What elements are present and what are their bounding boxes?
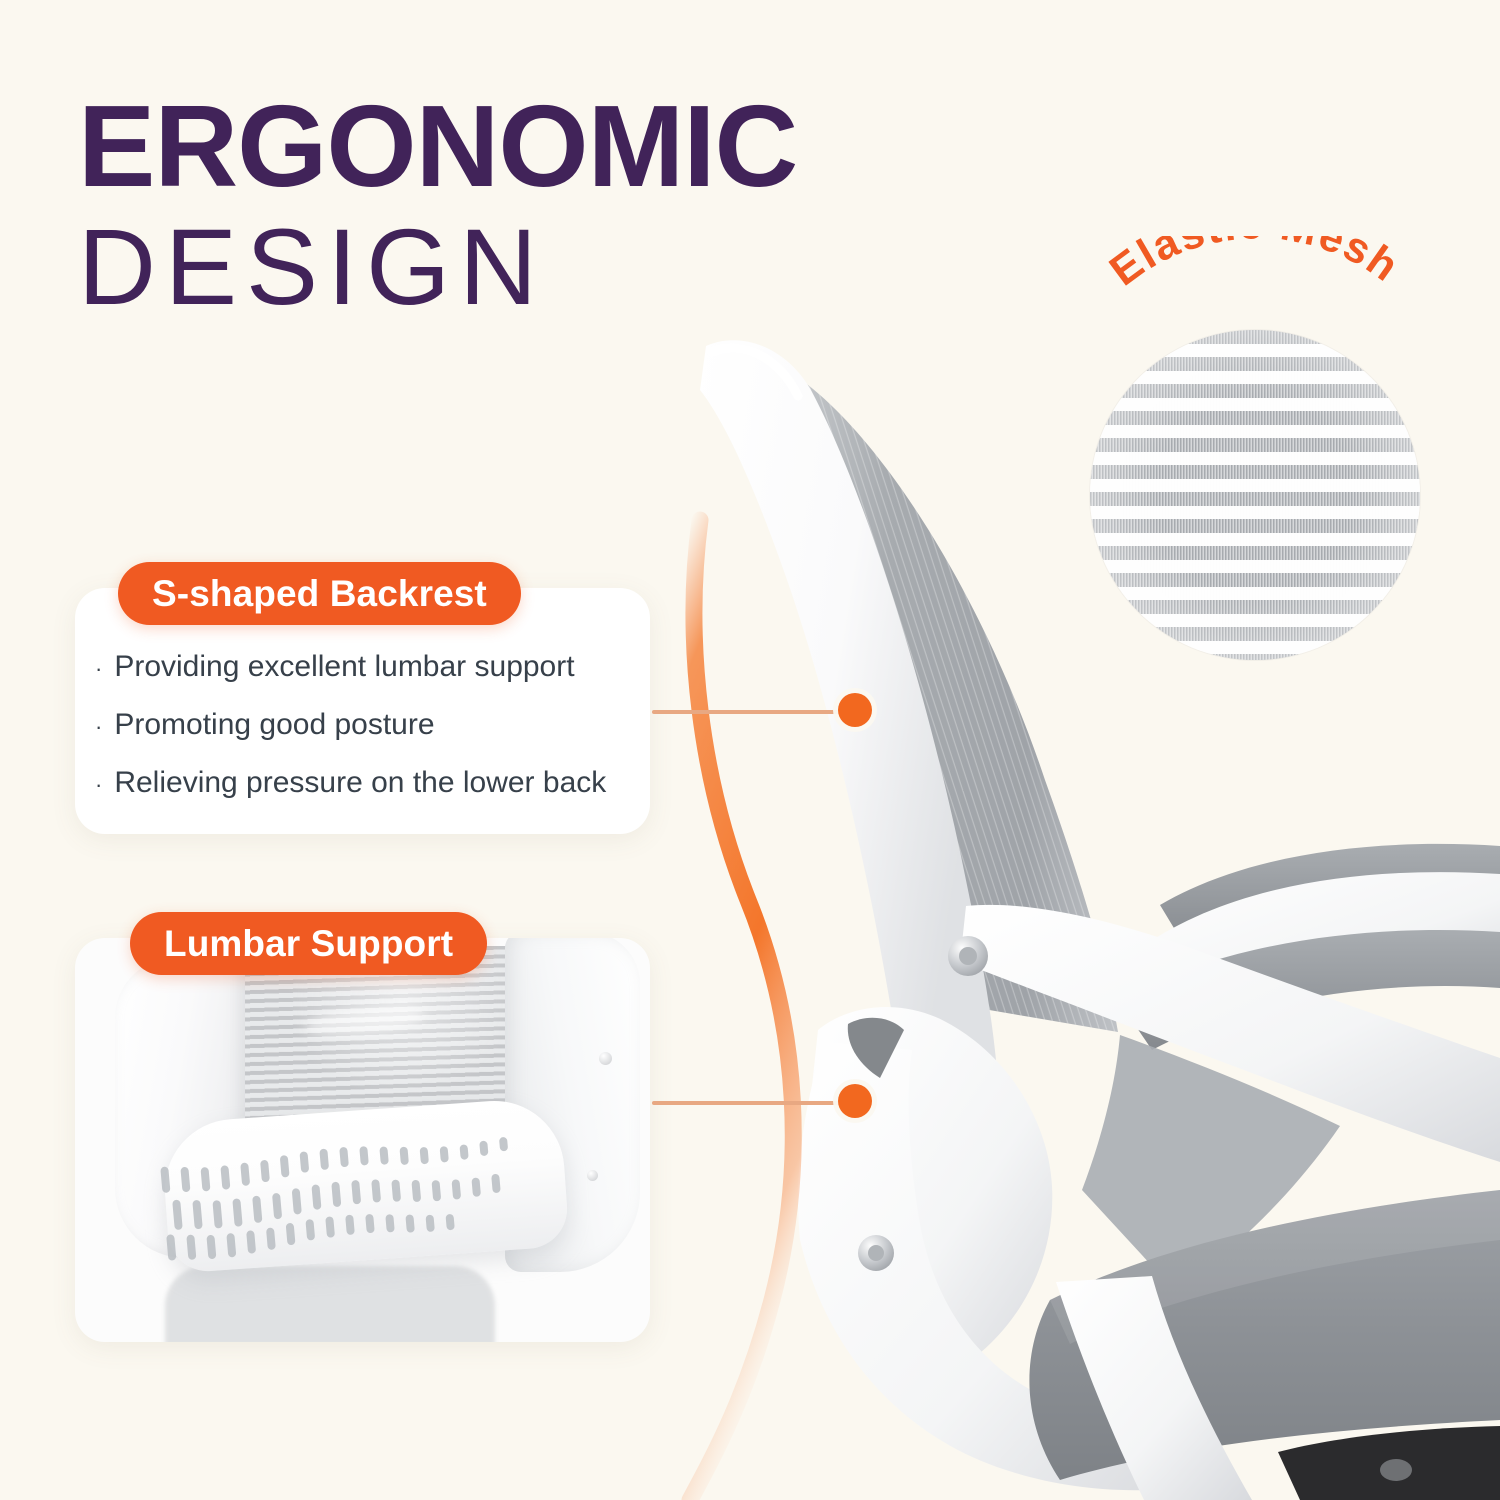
vent-slot <box>220 1165 230 1189</box>
lumbar-screw-icon <box>587 1170 598 1181</box>
vent-slot <box>425 1215 434 1233</box>
vent-slot <box>286 1223 296 1245</box>
lumbar-base-shadow <box>165 1266 495 1342</box>
lumbar-support-photo <box>75 938 650 1342</box>
elastic-mesh-label: Elastic Mesh <box>1036 236 1476 436</box>
vent-slot <box>405 1214 415 1232</box>
leader-line-backrest <box>652 710 857 714</box>
hinge-screw-lower <box>858 1235 894 1271</box>
svg-text:Elastic Mesh: Elastic Mesh <box>1101 236 1408 295</box>
bullet-dot-icon: · <box>95 716 102 738</box>
backrest-bullet-list: · Providing excellent lumbar support · P… <box>95 652 655 826</box>
vent-slot <box>200 1167 210 1192</box>
vent-slot <box>351 1180 361 1204</box>
vent-slot <box>499 1137 508 1152</box>
bullet-dot-icon: · <box>95 658 102 680</box>
hinge-mesh-wedge <box>848 1018 904 1078</box>
vent-slot <box>339 1147 349 1167</box>
vent-slot <box>359 1146 369 1166</box>
vent-slot <box>479 1141 488 1156</box>
vent-slot <box>246 1230 256 1254</box>
vent-slot <box>325 1216 335 1237</box>
page-title: ERGONOMIC DESIGN <box>78 88 797 324</box>
base-bolt <box>1380 1459 1412 1481</box>
vent-slot <box>160 1166 170 1193</box>
vent-slot <box>445 1214 454 1231</box>
vent-slot <box>186 1235 196 1261</box>
vent-slot <box>311 1185 321 1211</box>
bullet-dot-icon: · <box>95 774 102 796</box>
vent-slot <box>399 1147 409 1165</box>
badge-lumbar-support: Lumbar Support <box>130 912 487 975</box>
bullet-text: Relieving pressure on the lower back <box>114 768 606 798</box>
badge-s-shaped-backrest: S-shaped Backrest <box>118 562 521 625</box>
armrest-pad-upper <box>1160 844 1500 948</box>
vent-slot <box>292 1188 302 1214</box>
vent-slot <box>365 1214 375 1234</box>
vent-slot <box>371 1179 381 1203</box>
vent-slot <box>459 1144 468 1160</box>
armrest-arm <box>960 905 1500 1162</box>
vent-slot <box>172 1200 183 1231</box>
vent-slot <box>431 1180 441 1202</box>
vent-slot <box>180 1167 190 1193</box>
vent-slot <box>266 1227 276 1250</box>
lumbar-screw-icon <box>599 1052 612 1065</box>
armrest-support-upper <box>1135 872 1500 1004</box>
chair-base-black <box>1278 1426 1500 1500</box>
vent-slot <box>232 1198 242 1226</box>
infographic-canvas: ERGONOMIC DESIGN Elastic Mesh · Providin… <box>0 0 1500 1500</box>
vent-slot <box>166 1234 176 1261</box>
callout-card-lumbar <box>75 938 650 1342</box>
vent-slot <box>212 1200 222 1229</box>
s-shape-guide-curve <box>690 520 793 1500</box>
vent-slot <box>305 1219 315 1241</box>
tilt-mechanism-housing <box>812 1007 1052 1368</box>
vent-slot <box>471 1177 481 1197</box>
vent-slot <box>491 1174 501 1193</box>
headline-line-2: DESIGN <box>78 210 797 324</box>
vent-slot <box>331 1182 341 1207</box>
leader-line-lumbar <box>652 1101 857 1105</box>
vent-slot <box>226 1233 236 1257</box>
hinge-screw-upper <box>948 936 988 976</box>
vent-slot <box>319 1149 329 1170</box>
vent-slot <box>420 1147 429 1165</box>
vent-slot <box>345 1215 355 1235</box>
backrest-mesh-lower <box>1082 1035 1340 1292</box>
seat-front-trim <box>1056 1276 1252 1500</box>
elastic-mesh-label-text: Elastic Mesh <box>1101 236 1408 295</box>
vent-slot <box>440 1146 449 1163</box>
vent-slot <box>240 1163 250 1187</box>
vent-slot <box>451 1179 461 1200</box>
list-item: · Promoting good posture <box>95 710 655 740</box>
list-item: · Providing excellent lumbar support <box>95 652 655 682</box>
headline-line-1: ERGONOMIC <box>78 88 797 204</box>
leader-dot-backrest <box>838 693 872 727</box>
vent-slot <box>192 1200 203 1230</box>
vent-slot <box>206 1234 216 1259</box>
vent-slot <box>299 1152 309 1174</box>
leader-dot-lumbar <box>838 1084 872 1118</box>
vent-slot <box>379 1146 389 1165</box>
armrest-pad-lower <box>1118 930 1500 1050</box>
vent-slot <box>260 1159 270 1182</box>
vent-slot <box>280 1155 290 1177</box>
vent-slot <box>385 1214 395 1233</box>
bullet-text: Promoting good posture <box>114 710 434 740</box>
list-item: · Relieving pressure on the lower back <box>95 768 655 798</box>
seat-cushion <box>1029 1190 1500 1480</box>
vent-slot <box>272 1192 282 1219</box>
vent-slot <box>411 1180 421 1202</box>
bullet-text: Providing excellent lumbar support <box>114 652 574 682</box>
vent-slot <box>252 1196 262 1224</box>
vent-slot <box>391 1179 401 1202</box>
